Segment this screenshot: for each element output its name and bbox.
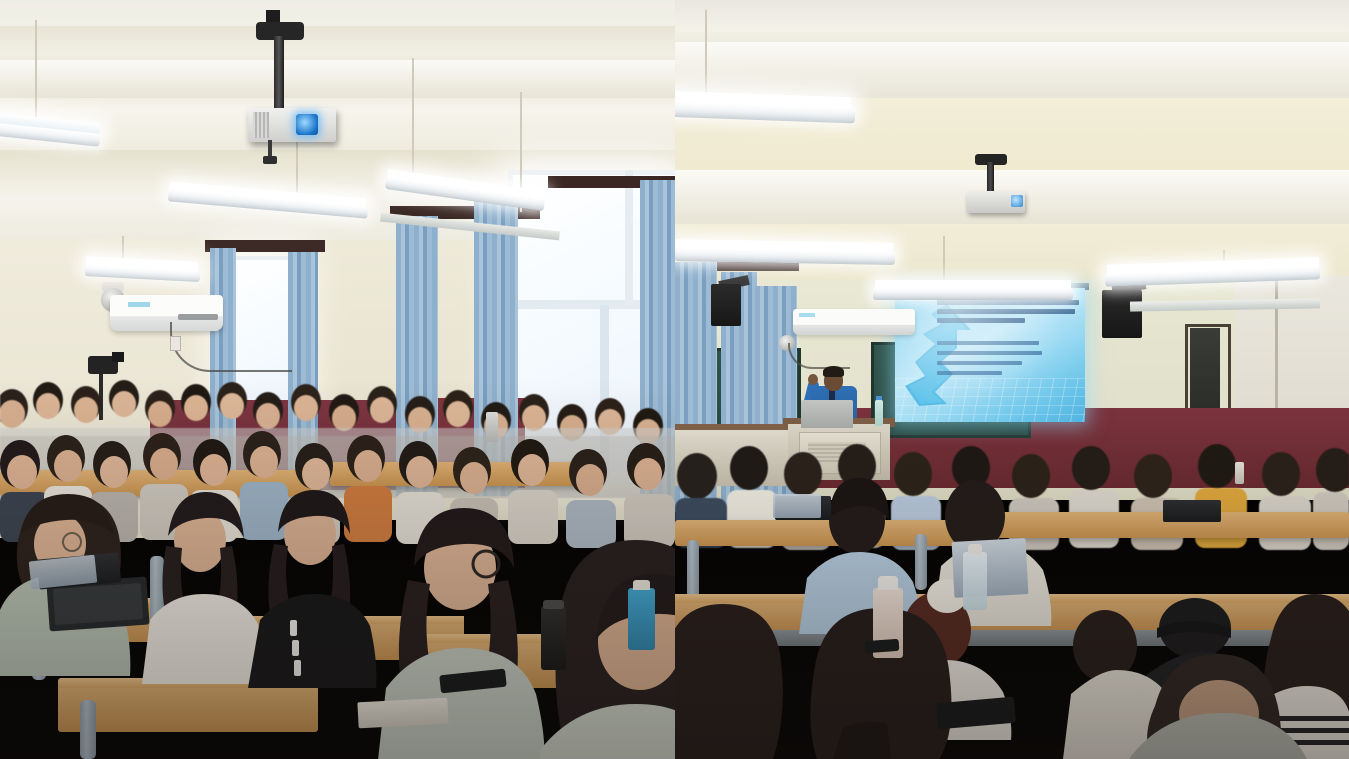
- wall-speaker: [711, 284, 741, 326]
- light-suspension-rod: [705, 10, 707, 100]
- projector-pole: [987, 162, 994, 194]
- presenter-laptop: [801, 400, 853, 428]
- water-bottle-cap: [968, 544, 982, 554]
- ceiling-band: [0, 26, 675, 56]
- ceiling-beam: [675, 42, 1349, 98]
- photo-panel-right: [675, 0, 1349, 759]
- window-mullion: [625, 170, 633, 305]
- water-bottle: [875, 400, 883, 426]
- light-suspension-rod: [412, 58, 414, 184]
- water-bottle: [1235, 462, 1244, 484]
- presenter-hair: [823, 366, 844, 377]
- screenshot-root: [0, 0, 1349, 759]
- laptop: [1163, 500, 1221, 522]
- projector-lens: [1011, 195, 1023, 207]
- screen-glare: [895, 288, 1085, 422]
- light-suspension-rod: [35, 20, 37, 128]
- ceiling-beam: [0, 60, 675, 98]
- presenter-hand: [808, 374, 818, 385]
- water-bottle: [963, 552, 987, 610]
- laptop-screen: [773, 494, 821, 518]
- water-bottle: [628, 588, 655, 650]
- air-conditioner-louver: [178, 314, 218, 320]
- air-conditioner-display: [128, 302, 150, 307]
- water-bottle: [486, 412, 498, 442]
- thermos-cap: [543, 600, 564, 609]
- phone: [865, 639, 900, 653]
- video-camera-lens: [112, 352, 124, 362]
- fluorescent-light: [873, 288, 1073, 300]
- thermos-bottle: [541, 606, 566, 670]
- projector-pole: [274, 36, 284, 110]
- water-bottle-cap: [633, 580, 650, 590]
- projector-vent: [253, 112, 269, 138]
- drink-bottle-cap: [878, 576, 898, 590]
- notebook: [357, 698, 448, 729]
- wall-socket: [170, 336, 181, 351]
- cable: [170, 322, 292, 372]
- light-suspension-rod: [943, 236, 945, 284]
- photo-panel-left: [0, 0, 675, 759]
- air-conditioner-display: [799, 313, 815, 317]
- projector-cable-clip: [263, 156, 277, 164]
- wall-speaker: [1102, 290, 1142, 338]
- projector-lens: [296, 114, 318, 135]
- fluorescent-tube-glow: [875, 280, 1071, 288]
- audience-foreground-left: [0, 460, 675, 759]
